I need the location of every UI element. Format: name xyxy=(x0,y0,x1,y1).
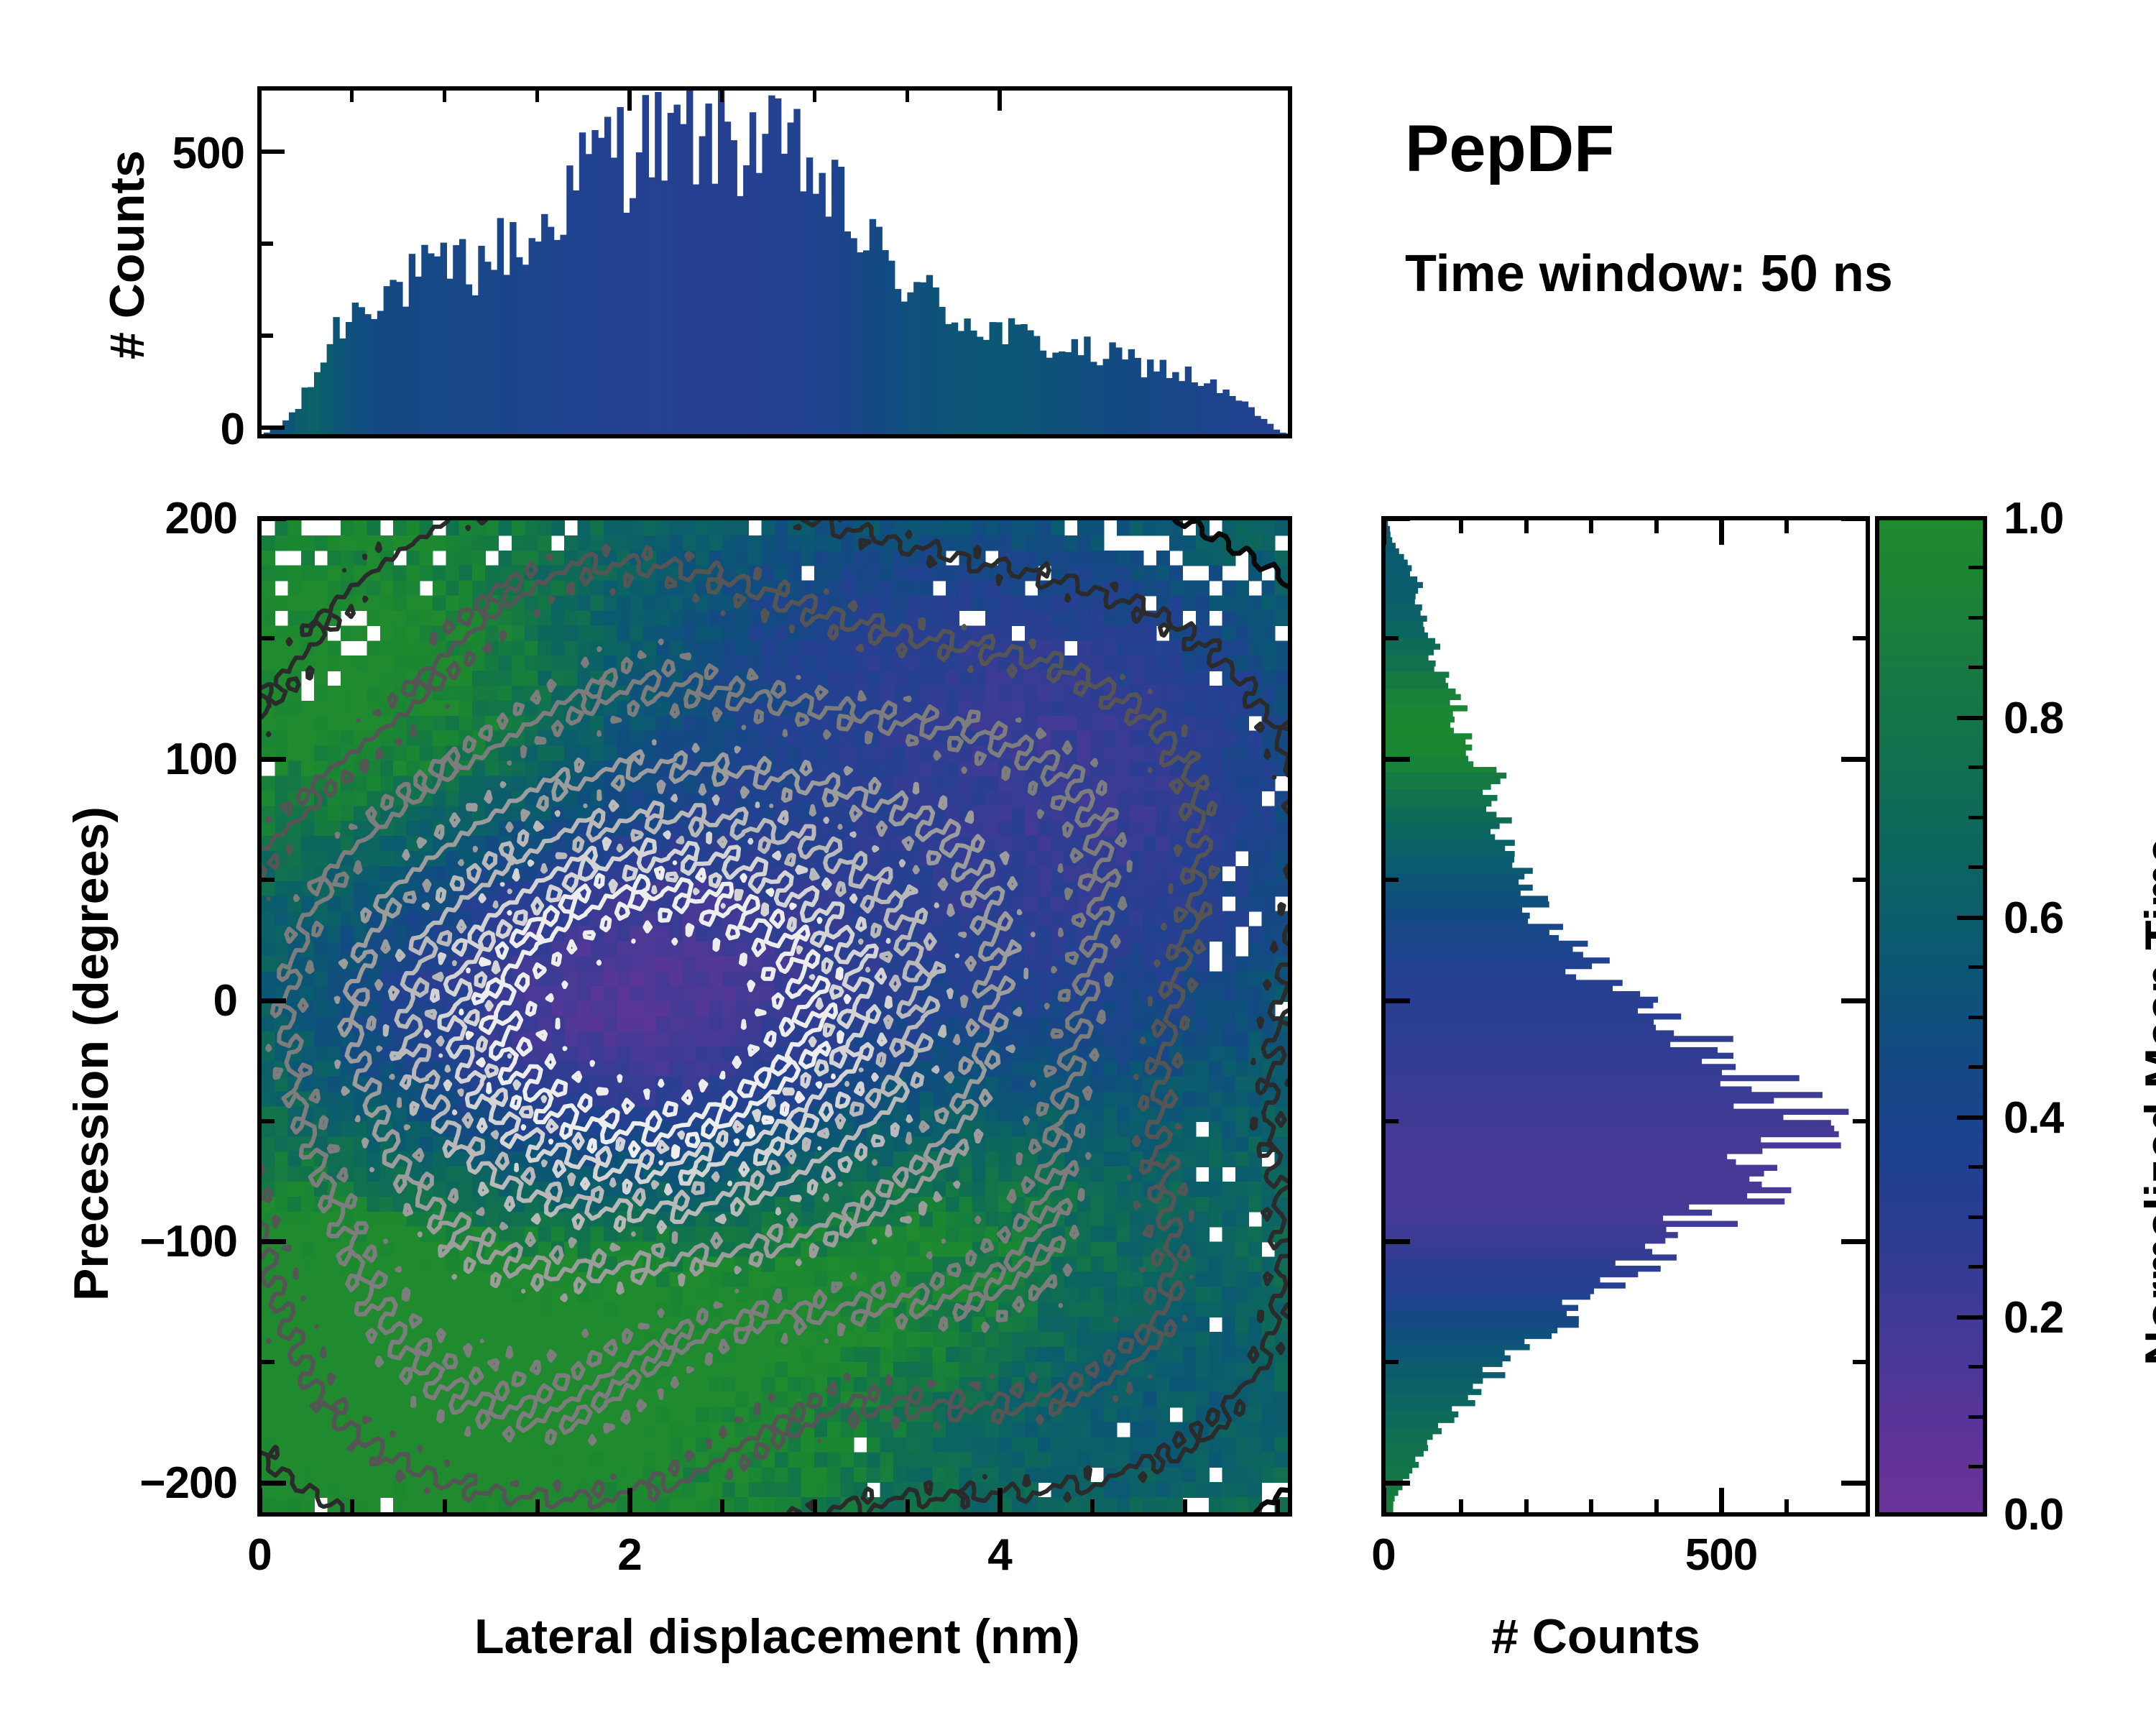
cbar-tick-mG xyxy=(1968,965,1987,969)
right-ytick-r100 xyxy=(1841,757,1870,762)
top-hist-xtick-m1 xyxy=(350,86,354,102)
cbar-tick-label-0.4: 0.4 xyxy=(2004,1092,2133,1144)
figure-canvas: 500 0 # Counts PepDF Time window: 50 ns … xyxy=(0,0,2156,1725)
cbar-tick-mH xyxy=(1968,1016,1987,1019)
main-xtick-2 xyxy=(627,1488,632,1517)
right-xtick-m1 xyxy=(1459,1499,1463,1517)
main-xtick-m3 xyxy=(535,1499,540,1517)
top-hist-xtick-4 xyxy=(998,86,1002,111)
main-heatmap-panel xyxy=(257,516,1292,1517)
right-xtick-tm2 xyxy=(1524,516,1529,533)
right-histogram-xlabel: # Counts xyxy=(1491,1609,1700,1665)
right-ytick-rm2 xyxy=(1853,878,1870,882)
right-ytick-rm3 xyxy=(1853,1119,1870,1123)
right-ytick-r0 xyxy=(1841,998,1870,1003)
top-hist-xtick-m5 xyxy=(813,86,816,102)
figure-subtitle: Time window: 50 ns xyxy=(1405,244,1893,303)
main-xlabel: Lateral displacement (nm) xyxy=(474,1609,1080,1665)
top-hist-ytick-0 xyxy=(257,425,285,430)
top-hist-top-spine xyxy=(257,86,1292,91)
right-ytick-m2 xyxy=(1381,878,1399,882)
main-ylabel: Precession (degrees) xyxy=(63,806,119,1301)
main-ytick-m3 xyxy=(257,1119,275,1123)
cbar-tick-mM xyxy=(1968,1365,1987,1368)
top-hist-ytick-500 xyxy=(257,149,285,154)
cbar-tick-mB xyxy=(1968,616,1987,620)
main-xtick-m5 xyxy=(813,1499,817,1517)
right-ytick-rm4 xyxy=(1853,1360,1870,1364)
main-ytick-m1 xyxy=(257,636,275,640)
right-xtick-500 xyxy=(1719,1488,1724,1517)
cbar-tick-label-1.0: 1.0 xyxy=(2004,493,2133,544)
cbar-tick-label-0.6: 0.6 xyxy=(2004,893,2133,944)
main-ytick-100 xyxy=(257,757,286,762)
right-xtick-t0 xyxy=(1381,516,1386,545)
top-histogram-plot xyxy=(257,86,1292,438)
right-ytick-0 xyxy=(1381,998,1410,1003)
main-xtick-m8 xyxy=(1183,1499,1187,1517)
main-ytick-n200 xyxy=(257,1481,286,1486)
cbar-tick-mI xyxy=(1968,1065,1987,1069)
top-hist-xtick-m2 xyxy=(443,86,446,102)
cbar-tick-mK xyxy=(1968,1215,1987,1219)
figure-title: PepDF xyxy=(1405,111,1614,187)
right-ytick-m4 xyxy=(1381,1360,1399,1364)
main-xtick-m2 xyxy=(443,1499,447,1517)
main-xtick-0 xyxy=(257,1488,262,1517)
right-xtick-m4 xyxy=(1654,1499,1659,1517)
main-xtick-4 xyxy=(998,1488,1003,1517)
cbar-tick-mF xyxy=(1968,865,1987,869)
right-xtick-label-0: 0 xyxy=(1355,1529,1412,1581)
right-xtick-m3 xyxy=(1589,1499,1593,1517)
top-hist-bottom-spine xyxy=(257,434,1292,438)
main-ytick-label-n200: −200 xyxy=(79,1458,237,1509)
right-ytick-m3 xyxy=(1381,1119,1399,1123)
top-hist-xtick-2 xyxy=(627,86,632,111)
main-ytick-n100 xyxy=(257,1239,286,1244)
top-hist-ytick-minor-2 xyxy=(257,333,273,338)
cbar-tick-0.8 xyxy=(1957,716,1987,720)
main-ytick-label-200: 200 xyxy=(93,493,237,544)
main-xtick-label-0: 0 xyxy=(231,1529,288,1581)
right-ytick-n200 xyxy=(1381,1481,1410,1486)
main-heatmap-plot xyxy=(262,520,1288,1512)
top-hist-ytick-label-0: 0 xyxy=(144,404,244,455)
cbar-tick-0.4 xyxy=(1957,1115,1987,1120)
main-xtick-m7 xyxy=(1090,1499,1095,1517)
right-xtick-tm4 xyxy=(1654,516,1659,533)
right-xtick-m5 xyxy=(1784,1499,1789,1517)
main-ytick-m4 xyxy=(257,1360,275,1364)
main-xtick-m4 xyxy=(720,1499,724,1517)
top-hist-right-spine xyxy=(1288,86,1292,438)
cbar-tick-1.0 xyxy=(1957,516,1987,520)
cbar-tick-mJ xyxy=(1968,1165,1987,1169)
right-histogram-panel xyxy=(1381,516,1870,1517)
cbar-tick-0.0 xyxy=(1957,1512,1987,1517)
main-ytick-label-100: 100 xyxy=(93,734,237,785)
main-xtick-label-4: 4 xyxy=(971,1529,1028,1581)
cbar-tick-0.6 xyxy=(1957,916,1987,920)
top-hist-xtick-m4 xyxy=(720,86,724,102)
main-xtick-m9 xyxy=(1276,1499,1280,1517)
top-hist-ytick-minor-1 xyxy=(257,241,273,246)
top-hist-left-spine xyxy=(257,86,262,438)
main-ytick-m2 xyxy=(257,878,275,882)
cbar-tick-label-0.2: 0.2 xyxy=(2004,1292,2133,1343)
cbar-tick-mN xyxy=(1968,1415,1987,1419)
main-ytick-200 xyxy=(257,516,286,521)
cbar-tick-mA xyxy=(1968,566,1987,569)
right-xtick-t500 xyxy=(1719,516,1724,545)
main-ytick-0 xyxy=(257,998,286,1003)
right-ytick-rn100 xyxy=(1841,1239,1870,1244)
top-hist-xtick-0 xyxy=(257,86,262,111)
top-hist-ytick-label-500: 500 xyxy=(144,128,244,179)
cbar-tick-label-0.8: 0.8 xyxy=(2004,693,2133,744)
right-ytick-rm1 xyxy=(1853,636,1870,640)
right-ytick-n100 xyxy=(1381,1239,1410,1244)
top-histogram-ylabel: # Counts xyxy=(99,150,155,359)
cbar-tick-mE xyxy=(1968,816,1987,819)
cbar-tick-label-0.0: 0.0 xyxy=(2004,1489,2133,1540)
cbar-tick-mD xyxy=(1968,765,1987,769)
right-ytick-m1 xyxy=(1381,636,1399,640)
colorbar-label: Normalized Mean Time xyxy=(2134,837,2156,1366)
main-xtick-label-2: 2 xyxy=(601,1529,658,1581)
right-ytick-100 xyxy=(1381,757,1410,762)
right-ytick-rn200 xyxy=(1841,1481,1870,1486)
top-hist-xtick-m6 xyxy=(906,86,909,102)
cbar-tick-0.2 xyxy=(1957,1315,1987,1320)
right-ytick-r200 xyxy=(1841,516,1870,521)
right-xtick-label-500: 500 xyxy=(1660,1529,1782,1581)
right-xtick-m2 xyxy=(1524,1499,1529,1517)
right-xtick-tm1 xyxy=(1459,516,1463,533)
right-xtick-tm3 xyxy=(1589,516,1593,533)
main-xtick-m6 xyxy=(906,1499,910,1517)
right-histogram-plot xyxy=(1386,520,1866,1512)
right-xtick-tm5 xyxy=(1784,516,1789,533)
cbar-tick-mC xyxy=(1968,666,1987,669)
right-xtick-0 xyxy=(1381,1488,1386,1517)
top-histogram-panel xyxy=(257,86,1292,438)
main-xtick-m1 xyxy=(350,1499,354,1517)
cbar-tick-mO xyxy=(1968,1465,1987,1468)
top-hist-xtick-m3 xyxy=(535,86,539,102)
cbar-tick-mL xyxy=(1968,1265,1987,1269)
